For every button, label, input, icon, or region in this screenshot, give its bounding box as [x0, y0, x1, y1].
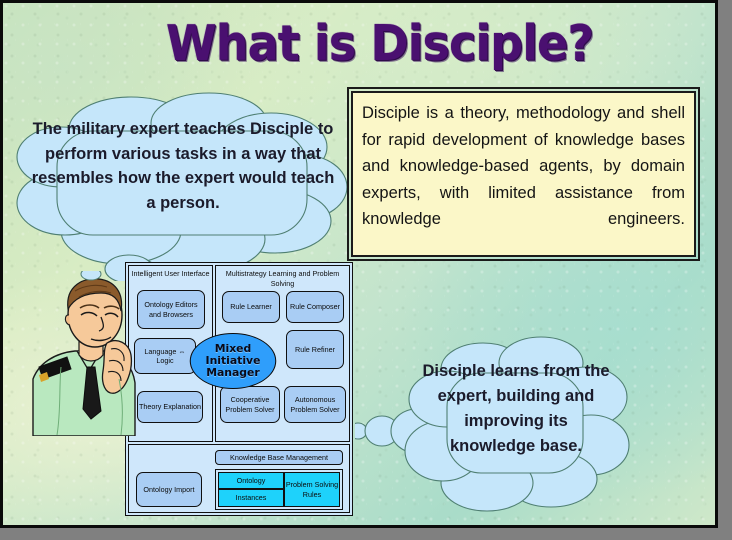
military-expert-clipart: [31, 271, 143, 436]
box-theory-explanation[interactable]: Theory Explanation: [137, 391, 203, 423]
panel-heading-mlps: Multistrategy Learning and Problem Solvi…: [216, 269, 349, 288]
panel-knowledge-base-management: Knowledge Base Management Ontology Impor…: [128, 444, 350, 513]
definition-box: Disciple is a theory, methodology and sh…: [351, 91, 696, 257]
thought-bubble-small: [81, 271, 101, 280]
box-rule-composer[interactable]: Rule Composer: [286, 291, 344, 323]
box-problem-solving-rules[interactable]: Problem Solving Rules: [284, 472, 340, 507]
box-cooperative-problem-solver[interactable]: Cooperative Problem Solver: [220, 386, 280, 423]
slide-frame: What is Disciple? The military expert te…: [0, 0, 718, 528]
disciple-architecture-diagram: Intelligent User Interface Ontology Edit…: [125, 262, 353, 516]
box-rule-learner[interactable]: Rule Learner: [222, 291, 280, 323]
kb-store-group: Ontology Instances Problem Solving Rules: [215, 469, 343, 510]
left-cloud-shape: [13, 91, 353, 281]
mixed-initiative-manager-ellipse[interactable]: Mixed Initiative Manager: [190, 333, 277, 389]
right-cloud-shape: [355, 321, 655, 521]
box-autonomous-problem-solver[interactable]: Autonomous Problem Solver: [284, 386, 346, 423]
box-rule-refiner[interactable]: Rule Refiner: [286, 330, 344, 369]
right-thought-cloud: Disciple learns from the expert, buildin…: [355, 321, 655, 521]
box-knowledge-base-management[interactable]: Knowledge Base Management: [215, 450, 343, 465]
definition-text: Disciple is a theory, methodology and sh…: [362, 100, 685, 259]
page-title: What is Disciple?: [166, 17, 570, 71]
box-ontology-editors[interactable]: Ontology Editors and Browsers: [137, 290, 205, 329]
box-language-logic[interactable]: Language ⇔ Logic: [134, 338, 196, 374]
box-instances[interactable]: Instances: [218, 489, 284, 507]
box-ontology[interactable]: Ontology: [218, 472, 284, 489]
left-thought-cloud: The military expert teaches Disciple to …: [13, 91, 353, 281]
box-ontology-import[interactable]: Ontology Import: [136, 472, 202, 507]
